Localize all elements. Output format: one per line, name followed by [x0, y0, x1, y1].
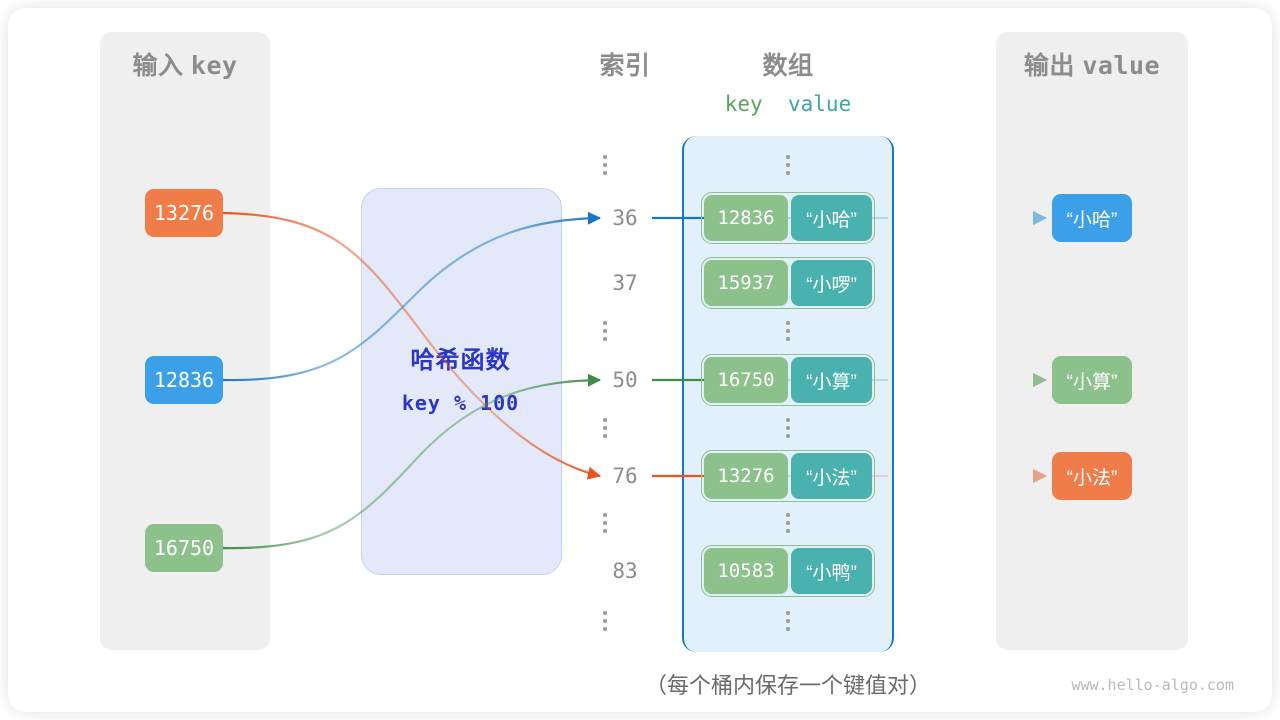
- bucket-value: “小算”: [791, 357, 872, 403]
- hash-function-formula: key % 100: [361, 391, 560, 415]
- array-bucket[interactable]: 15937 “小啰”: [701, 257, 875, 309]
- input-column-title: 输入 key: [100, 46, 270, 82]
- output-title-mono: value: [1082, 51, 1160, 80]
- diagram-caption: （每个桶内保存一个键值对）: [600, 668, 976, 700]
- diagram-canvas: 输入 key 索引 数组 输出 value key value 哈希函数 key…: [0, 0, 1280, 720]
- index-label: 50: [595, 368, 655, 392]
- array-ellipsis: [778, 414, 798, 442]
- index-ellipsis: [595, 509, 615, 537]
- array-bucket[interactable]: 12836 “小哈”: [701, 192, 875, 244]
- output-title-cn: 输出: [1024, 52, 1075, 80]
- array-bucket[interactable]: 10583 “小鸭”: [701, 545, 875, 597]
- bucket-key: 16750: [704, 357, 788, 403]
- output-value-chip[interactable]: “小算”: [1052, 356, 1132, 404]
- output-value-label: “小法”: [1067, 463, 1118, 490]
- bucket-key: 10583: [704, 548, 788, 594]
- array-subheader-key: key: [725, 92, 763, 116]
- bucket-value: “小哈”: [791, 195, 872, 241]
- array-bucket[interactable]: 13276 “小法”: [701, 450, 875, 502]
- index-column-title: 索引: [580, 46, 670, 82]
- input-key-chip[interactable]: 13276: [145, 189, 223, 237]
- input-title-mono: key: [191, 51, 238, 80]
- bucket-key: 12836: [704, 195, 788, 241]
- index-label: 36: [595, 206, 655, 230]
- array-subheader-value: value: [788, 92, 851, 116]
- bucket-key: 13276: [704, 453, 788, 499]
- array-ellipsis: [778, 607, 798, 635]
- index-ellipsis: [595, 607, 615, 635]
- output-value-chip[interactable]: “小哈”: [1052, 194, 1132, 242]
- array-ellipsis: [778, 317, 798, 345]
- array-subheader: key value: [682, 92, 894, 116]
- output-column-background: [996, 32, 1188, 650]
- bucket-key: 15937: [704, 260, 788, 306]
- input-key-label: 13276: [154, 201, 214, 225]
- array-ellipsis: [778, 151, 798, 179]
- index-ellipsis: [595, 317, 615, 345]
- index-ellipsis: [595, 414, 615, 442]
- array-title-text: 数组: [762, 52, 813, 80]
- index-label: 37: [595, 271, 655, 295]
- hash-function-box: [361, 188, 562, 575]
- output-value-chip[interactable]: “小法”: [1052, 452, 1132, 500]
- output-value-label: “小算”: [1067, 367, 1118, 394]
- output-column-title: 输出 value: [996, 46, 1188, 82]
- output-value-label: “小哈”: [1067, 205, 1118, 232]
- input-key-chip[interactable]: 16750: [145, 524, 223, 572]
- bucket-value: “小啰”: [791, 260, 872, 306]
- bucket-value: “小法”: [791, 453, 872, 499]
- input-key-label: 12836: [154, 368, 214, 392]
- input-title-cn: 输入: [132, 52, 183, 80]
- index-label: 76: [595, 464, 655, 488]
- array-ellipsis: [778, 509, 798, 537]
- input-key-chip[interactable]: 12836: [145, 356, 223, 404]
- array-column-title: 数组: [682, 46, 894, 82]
- index-ellipsis: [595, 151, 615, 179]
- input-key-label: 16750: [154, 536, 214, 560]
- array-bucket[interactable]: 16750 “小算”: [701, 354, 875, 406]
- index-title-text: 索引: [599, 52, 650, 80]
- bucket-value: “小鸭”: [791, 548, 872, 594]
- hash-function-title: 哈希函数: [361, 340, 560, 375]
- watermark: www.hello-algo.com: [1071, 676, 1234, 694]
- index-label: 83: [595, 559, 655, 583]
